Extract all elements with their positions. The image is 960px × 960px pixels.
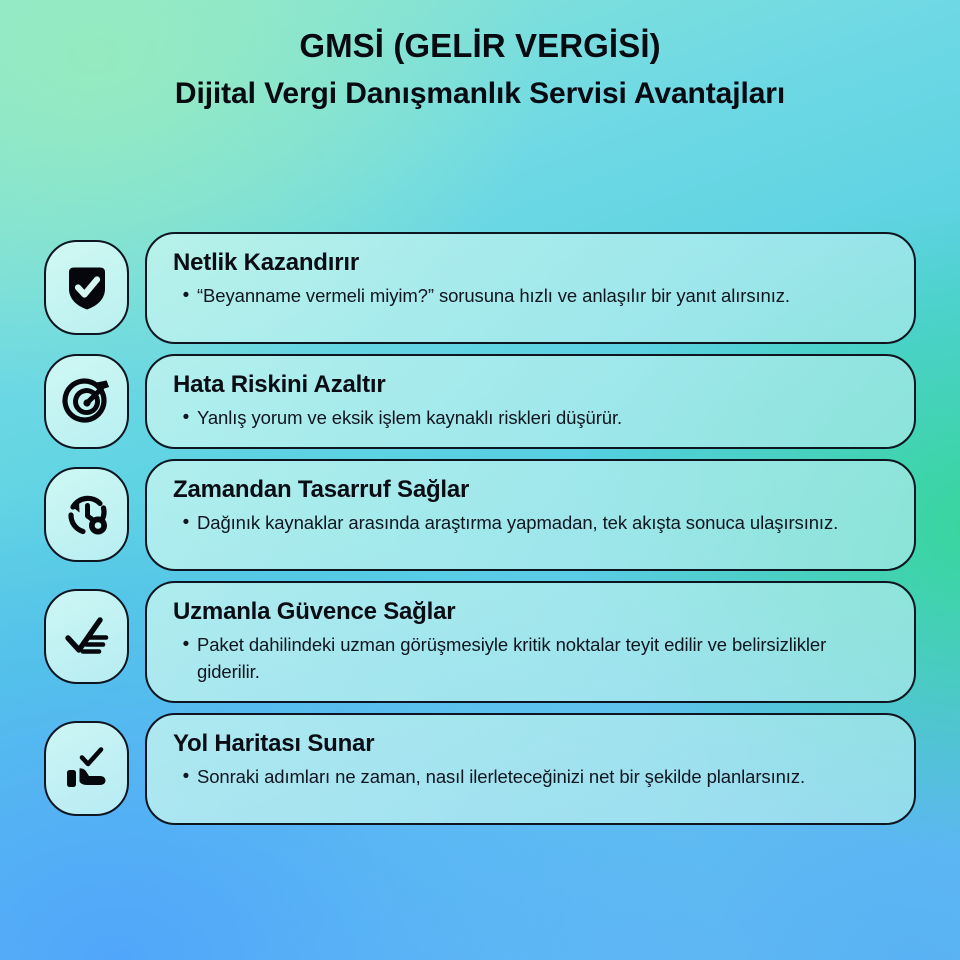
advantage-bullet-1: “Beyanname vermeli miyim?” sorusuna hızl… [197, 282, 888, 309]
bullet-marker: • [175, 763, 197, 790]
bullet-marker: • [175, 404, 197, 431]
advantage-item-3: Zamandan Tasarruf Sağlar • Dağınık kayna… [44, 459, 916, 571]
advantage-title-3: Zamandan Tasarruf Sağlar [173, 475, 888, 505]
bullet-marker: • [175, 631, 197, 658]
advantage-bullet-row-1: • “Beyanname vermeli miyim?” sorusuna hı… [173, 282, 888, 309]
checklist-check-icon [44, 589, 129, 684]
bullet-marker: • [175, 509, 197, 536]
advantage-item-2: Hata Riskini Azaltır • Yanlış yorum ve e… [44, 354, 916, 449]
advantage-item-5: Yol Haritası Sunar • Sonraki adımları ne… [44, 713, 916, 825]
advantage-card-5: Yol Haritası Sunar • Sonraki adımları ne… [145, 713, 916, 825]
advantage-card-1: Netlik Kazandırır • “Beyanname vermeli m… [145, 232, 916, 344]
advantage-bullet-5: Sonraki adımları ne zaman, nasıl ilerlet… [197, 763, 888, 790]
advantage-item-1: Netlik Kazandırır • “Beyanname vermeli m… [44, 232, 916, 344]
advantage-bullet-row-3: • Dağınık kaynaklar arasında araştırma y… [173, 509, 888, 536]
advantage-title-1: Netlik Kazandırır [173, 248, 888, 278]
advantage-bullet-row-5: • Sonraki adımları ne zaman, nasıl ilerl… [173, 763, 888, 790]
advantage-title-5: Yol Haritası Sunar [173, 729, 888, 759]
page-title-secondary: Dijital Vergi Danışmanlık Servisi Avanta… [0, 74, 960, 114]
advantage-item-4: Uzmanla Güvence Sağlar • Paket dahilinde… [44, 581, 916, 703]
infographic-canvas: GMSİ (GELİR VERGİSİ) Dijital Vergi Danış… [0, 0, 960, 960]
advantage-bullet-row-2: • Yanlış yorum ve eksik işlem kaynaklı r… [173, 404, 888, 431]
advantage-card-2: Hata Riskini Azaltır • Yanlış yorum ve e… [145, 354, 916, 449]
advantage-card-4: Uzmanla Güvence Sağlar • Paket dahilinde… [145, 581, 916, 703]
advantage-bullet-row-4: • Paket dahilindeki uzman görüşmesiyle k… [173, 631, 888, 685]
page-title-primary: GMSİ (GELİR VERGİSİ) [0, 26, 960, 66]
target-arrow-icon [44, 354, 129, 449]
header: GMSİ (GELİR VERGİSİ) Dijital Vergi Danış… [0, 26, 960, 114]
advantages-list: Netlik Kazandırır • “Beyanname vermeli m… [44, 232, 916, 835]
advantage-bullet-3: Dağınık kaynaklar arasında araştırma yap… [197, 509, 888, 536]
advantage-bullet-4: Paket dahilindeki uzman görüşmesiyle kri… [197, 631, 888, 685]
clock-rotate-icon [44, 467, 129, 562]
shield-check-icon [44, 240, 129, 335]
advantage-bullet-2: Yanlış yorum ve eksik işlem kaynaklı ris… [197, 404, 888, 431]
hand-check-icon [44, 721, 129, 816]
advantage-title-2: Hata Riskini Azaltır [173, 370, 888, 400]
advantage-card-3: Zamandan Tasarruf Sağlar • Dağınık kayna… [145, 459, 916, 571]
bullet-marker: • [175, 282, 197, 309]
advantage-title-4: Uzmanla Güvence Sağlar [173, 597, 888, 627]
